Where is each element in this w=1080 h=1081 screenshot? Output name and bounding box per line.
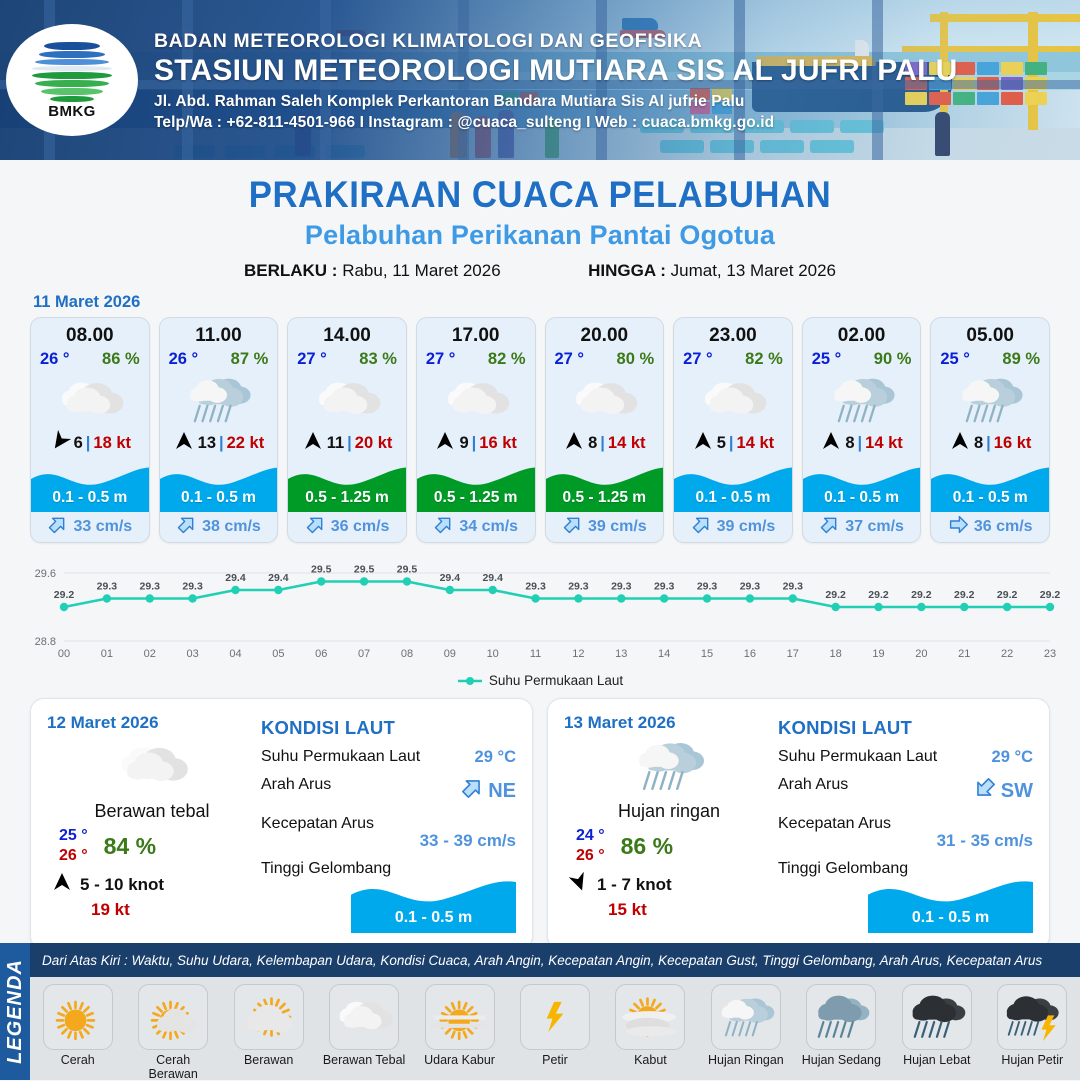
card-temperature: 27 ° [297, 350, 327, 369]
svg-text:05: 05 [272, 648, 284, 660]
page-title: PRAKIRAAN CUACA PELABUHAN [32, 174, 1047, 216]
card-temp-hum-row: 25 ° 89 % [931, 347, 1049, 369]
card-temp-hum-row: 26 ° 87 % [160, 347, 278, 369]
svg-text:29.2: 29.2 [1040, 589, 1061, 601]
legend-item: Cerah Berawan [130, 984, 216, 1081]
hujan-sedang-icon [806, 984, 876, 1050]
day1-date: 11 Maret 2026 [33, 293, 1080, 312]
card-wave-height: 0.1 - 0.5 m [674, 489, 792, 507]
card-wind-row: 11 | 20 kt [288, 431, 406, 462]
chart-legend: Suhu Permukaan Laut [0, 673, 1080, 688]
panel-right: KONDISI LAUT Suhu Permukaan Laut 29 °C A… [774, 713, 1033, 935]
panel-condition: Hujan ringan [564, 801, 774, 822]
svg-text:29.4: 29.4 [482, 572, 503, 584]
card-wave-height: 0.5 - 1.25 m [417, 489, 535, 507]
berawan-icon [234, 984, 304, 1050]
svg-text:18: 18 [830, 648, 842, 660]
card-wave: 0.1 - 0.5 m [674, 462, 792, 512]
legend-item: Udara Kabur [417, 984, 503, 1067]
panel-left: 13 Maret 2026 Hujan ringan 24 ° 26 ° 86 … [564, 713, 774, 935]
legend-item-label: Kabut [607, 1053, 693, 1067]
panel-gust: 19 kt [47, 900, 257, 920]
sst-chart: 29.628.829.20029.30129.30229.30329.40429… [16, 551, 1064, 671]
card-current-row: 39 cm/s [546, 512, 664, 542]
card-gust: 14 kt [865, 434, 903, 453]
svg-text:16: 16 [744, 648, 756, 660]
legend-items: Cerah Cerah Berawan Berawan Berawan Teba… [30, 977, 1080, 1080]
current-direction-arrow-icon [460, 776, 484, 806]
svg-text:07: 07 [358, 648, 370, 660]
hujan-ringan-icon [564, 735, 774, 797]
forecast-card: 05.00 25 ° 89 % 8 | 16 kt 0.1 - 0.5 m 36… [930, 317, 1050, 543]
card-temp-hum-row: 27 ° 83 % [288, 347, 406, 369]
svg-text:28.8: 28.8 [35, 636, 56, 648]
card-temperature: 27 ° [683, 350, 713, 369]
title-section: PRAKIRAAN CUACA PELABUHAN Pelabuhan Peri… [0, 160, 1080, 281]
agency-name: BADAN METEOROLOGI KLIMATOLOGI DAN GEOFIS… [154, 30, 957, 53]
card-temperature: 25 ° [940, 350, 970, 369]
card-temperature: 26 ° [40, 350, 70, 369]
legend-side-text: LEGENDA [4, 959, 27, 1064]
hingga-value: Jumat, 13 Maret 2026 [671, 261, 836, 280]
svg-text:29.3: 29.3 [525, 581, 546, 593]
svg-text:02: 02 [144, 648, 156, 660]
forecast-card: 20.00 27 ° 80 % 8 | 14 kt 0.5 - 1.25 m 3… [545, 317, 665, 543]
current-speed-value: 33 - 39 cm/s [261, 831, 516, 851]
svg-text:29.2: 29.2 [997, 589, 1018, 601]
panel-wave: 0.1 - 0.5 m [351, 875, 516, 933]
legend-item: Petir [512, 984, 598, 1067]
card-wind-speed: 5 [717, 434, 726, 453]
petir-icon [520, 984, 590, 1050]
arrow-e-icon [173, 431, 195, 456]
card-current-speed: 36 cm/s [974, 518, 1033, 536]
card-temperature: 27 ° [426, 350, 456, 369]
card-humidity: 86 % [102, 350, 140, 369]
card-current-speed: 39 cm/s [588, 518, 647, 536]
daily-forecast-panel: 13 Maret 2026 Hujan ringan 24 ° 26 ° 86 … [547, 698, 1050, 950]
card-wind-row: 8 | 16 kt [931, 431, 1049, 462]
card-wind-speed: 8 [974, 434, 983, 453]
chart-legend-label: Suhu Permukaan Laut [489, 673, 623, 688]
svg-text:10: 10 [487, 648, 499, 660]
card-current-speed: 37 cm/s [845, 518, 904, 536]
panel-left: 12 Maret 2026 Berawan tebal 25 ° 26 ° 84… [47, 713, 257, 935]
berlaku-value: Rabu, 11 Maret 2026 [342, 261, 500, 280]
arrow-ne-icon [819, 514, 840, 540]
svg-text:29.2: 29.2 [54, 589, 75, 601]
page-subtitle: Pelabuhan Perikanan Pantai Ogotua [0, 220, 1080, 251]
card-wind-separator: | [729, 434, 734, 453]
card-gust: 14 kt [608, 434, 646, 453]
card-time: 05.00 [931, 325, 1049, 347]
current-direction-value: NE [488, 780, 516, 803]
card-wave-height: 0.5 - 1.25 m [288, 489, 406, 507]
legend-item-label: Petir [512, 1053, 598, 1067]
svg-text:29.5: 29.5 [311, 564, 332, 576]
card-wind-separator: | [986, 434, 991, 453]
card-current-row: 38 cm/s [160, 512, 278, 542]
card-wave-height: 0.1 - 0.5 m [931, 489, 1049, 507]
panel-temp-hum: 24 ° 26 ° 86 % [564, 826, 774, 866]
legend-item-label: Berawan Tebal [321, 1053, 407, 1067]
panel-humidity: 84 % [104, 833, 156, 860]
kabut-icon [615, 984, 685, 1050]
arrow-e-icon [302, 431, 324, 456]
card-wind-separator: | [347, 434, 352, 453]
card-wind-row: 13 | 22 kt [160, 431, 278, 462]
forecast-card: 23.00 27 ° 82 % 5 | 14 kt 0.1 - 0.5 m 39… [673, 317, 793, 543]
panel-temp-max: 26 ° [59, 846, 88, 866]
svg-text:15: 15 [701, 648, 713, 660]
card-wave: 0.1 - 0.5 m [931, 462, 1049, 512]
sst-value: 29 °C [475, 748, 516, 767]
panel-wind-range: 1 - 7 knot [597, 875, 672, 895]
berawan-tebal-icon [288, 369, 406, 431]
legend-item: Hujan Petir [989, 984, 1075, 1067]
panel-temp-min: 24 ° [576, 826, 605, 846]
svg-text:13: 13 [615, 648, 627, 660]
panel-date: 13 Maret 2026 [564, 713, 774, 733]
card-temp-hum-row: 27 ° 80 % [546, 347, 664, 369]
card-temperature: 26 ° [169, 350, 199, 369]
svg-text:01: 01 [101, 648, 113, 660]
card-humidity: 80 % [617, 350, 655, 369]
card-wave: 0.5 - 1.25 m [288, 462, 406, 512]
panel-temps: 25 ° 26 ° [59, 826, 88, 866]
card-humidity: 90 % [874, 350, 912, 369]
panel-right: KONDISI LAUT Suhu Permukaan Laut 29 °C A… [257, 713, 516, 935]
panel-temp-min: 25 ° [59, 826, 88, 846]
card-humidity: 83 % [359, 350, 397, 369]
current-speed-label: Kecepatan Arus [778, 815, 891, 833]
legend-item-label: Hujan Lebat [894, 1053, 980, 1067]
svg-text:12: 12 [572, 648, 584, 660]
card-wind-speed: 6 [74, 434, 83, 453]
card-wind-separator: | [219, 434, 224, 453]
forecast-card: 11.00 26 ° 87 % 13 | 22 kt 0.1 - 0.5 m 3… [159, 317, 279, 543]
hujan-ringan-icon [160, 369, 278, 431]
svg-text:06: 06 [315, 648, 327, 660]
panel-wind-range: 5 - 10 knot [80, 875, 164, 895]
arrow-e-icon [692, 431, 714, 456]
sst-value: 29 °C [992, 748, 1033, 767]
hourly-forecast-row: 08.00 26 ° 86 % 6 | 18 kt 0.1 - 0.5 m 33… [0, 317, 1080, 543]
arrow-ne-icon [433, 514, 454, 540]
cerah-berawan-icon [138, 984, 208, 1050]
panel-wave-height: 0.1 - 0.5 m [351, 909, 516, 927]
berawan-tebal-icon [546, 369, 664, 431]
forecast-card: 14.00 27 ° 83 % 11 | 20 kt 0.5 - 1.25 m … [287, 317, 407, 543]
card-wind-separator: | [86, 434, 91, 453]
sst-label: Suhu Permukaan Laut [778, 748, 937, 766]
panel-temp-max: 26 ° [576, 846, 605, 866]
svg-text:29.2: 29.2 [911, 589, 932, 601]
card-time: 23.00 [674, 325, 792, 347]
card-current-speed: 38 cm/s [202, 518, 261, 536]
legend-item: Kabut [607, 984, 693, 1067]
berawan-tebal-icon [417, 369, 535, 431]
arrow-e-icon [51, 872, 73, 897]
legend-bar: LEGENDA Dari Atas Kiri : Waktu, Suhu Uda… [0, 943, 1080, 1080]
card-wave-height: 0.5 - 1.25 m [546, 489, 664, 507]
card-humidity: 89 % [1002, 350, 1040, 369]
svg-text:29.3: 29.3 [182, 581, 203, 593]
current-direction-value: SW [1001, 780, 1033, 803]
svg-text:04: 04 [229, 648, 241, 660]
current-direction-label: Arah Arus [778, 776, 848, 794]
legend-item: Hujan Sedang [798, 984, 884, 1067]
card-wave: 0.1 - 0.5 m [160, 462, 278, 512]
card-time: 02.00 [803, 325, 921, 347]
legend-item-label: Cerah [35, 1053, 121, 1067]
sst-row: Suhu Permukaan Laut 29 °C [778, 748, 1033, 767]
card-time: 14.00 [288, 325, 406, 347]
card-gust: 16 kt [994, 434, 1032, 453]
current-direction-label: Arah Arus [261, 776, 331, 794]
svg-text:22: 22 [1001, 648, 1013, 660]
card-temp-hum-row: 27 ° 82 % [674, 347, 792, 369]
berawan-tebal-icon [674, 369, 792, 431]
card-temperature: 27 ° [555, 350, 585, 369]
card-wave: 0.5 - 1.25 m [417, 462, 535, 512]
card-time: 11.00 [160, 325, 278, 347]
card-current-row: 36 cm/s [931, 512, 1049, 542]
page-header: BMKG BADAN METEOROLOGI KLIMATOLOGI DAN G… [0, 0, 1080, 160]
arrow-e-icon [563, 431, 585, 456]
card-wind-row: 9 | 16 kt [417, 431, 535, 462]
hujan-ringan-icon [931, 369, 1049, 431]
card-wind-speed: 8 [588, 434, 597, 453]
panel-wind: 5 - 10 knot [47, 872, 257, 897]
legend-item-label: Hujan Petir [989, 1053, 1075, 1067]
card-current-row: 36 cm/s [288, 512, 406, 542]
card-humidity: 82 % [745, 350, 783, 369]
card-gust: 18 kt [93, 434, 131, 453]
panel-temp-hum: 25 ° 26 ° 84 % [47, 826, 257, 866]
arrow-ne-icon [47, 514, 68, 540]
card-time: 08.00 [31, 325, 149, 347]
legend-item-label: Hujan Sedang [798, 1053, 884, 1067]
svg-text:29.3: 29.3 [740, 581, 761, 593]
hujan-ringan-icon [803, 369, 921, 431]
svg-text:29.3: 29.3 [97, 581, 118, 593]
svg-text:29.3: 29.3 [783, 581, 804, 593]
legend-item-label: Cerah Berawan [130, 1053, 216, 1081]
svg-text:29.3: 29.3 [697, 581, 718, 593]
svg-text:29.3: 29.3 [140, 581, 161, 593]
svg-text:29.4: 29.4 [440, 572, 461, 584]
panel-date: 12 Maret 2026 [47, 713, 257, 733]
svg-text:09: 09 [444, 648, 456, 660]
panel-wind: 1 - 7 knot [564, 872, 774, 897]
svg-text:29.5: 29.5 [397, 564, 418, 576]
arrow-w-icon [568, 872, 590, 897]
daily-forecast-panel: 12 Maret 2026 Berawan tebal 25 ° 26 ° 84… [30, 698, 533, 950]
legend-item: Berawan Tebal [321, 984, 407, 1067]
current-direction-arrow-icon [973, 776, 997, 806]
svg-text:08: 08 [401, 648, 413, 660]
arrow-e-icon [948, 514, 969, 540]
card-wind-row: 8 | 14 kt [546, 431, 664, 462]
legend-item-label: Udara Kabur [417, 1053, 503, 1067]
sst-label: Suhu Permukaan Laut [261, 748, 420, 766]
card-current-speed: 33 cm/s [73, 518, 132, 536]
card-wind-row: 8 | 14 kt [803, 431, 921, 462]
card-gust: 22 kt [227, 434, 265, 453]
card-temp-hum-row: 27 ° 82 % [417, 347, 535, 369]
arrow-ne-icon [691, 514, 712, 540]
arrow-e-icon [434, 431, 456, 456]
panel-wave: 0.1 - 0.5 m [868, 875, 1033, 933]
svg-text:29.3: 29.3 [654, 581, 675, 593]
svg-text:29.3: 29.3 [611, 581, 632, 593]
card-wave-height: 0.1 - 0.5 m [803, 489, 921, 507]
card-temp-hum-row: 25 ° 90 % [803, 347, 921, 369]
arrow-ne-icon [176, 514, 197, 540]
card-current-row: 33 cm/s [31, 512, 149, 542]
svg-text:21: 21 [958, 648, 970, 660]
card-wind-row: 5 | 14 kt [674, 431, 792, 462]
card-current-speed: 34 cm/s [459, 518, 518, 536]
current-direction-row: Arah Arus SW [778, 776, 1033, 806]
card-current-row: 34 cm/s [417, 512, 535, 542]
panel-condition: Berawan tebal [47, 801, 257, 822]
panel-wave-height: 0.1 - 0.5 m [868, 909, 1033, 927]
legend-marker-icon [457, 676, 483, 686]
berawan-tebal-icon [47, 735, 257, 797]
svg-text:29.2: 29.2 [825, 589, 846, 601]
card-current-row: 39 cm/s [674, 512, 792, 542]
card-gust: 20 kt [355, 434, 393, 453]
current-speed-value: 31 - 35 cm/s [778, 831, 1033, 851]
card-gust: 14 kt [737, 434, 775, 453]
card-wind-separator: | [858, 434, 863, 453]
svg-text:29.6: 29.6 [35, 568, 56, 580]
berlaku-label: BERLAKU : [244, 261, 338, 280]
berawan-tebal-icon [31, 369, 149, 431]
legend-item: Berawan [226, 984, 312, 1067]
legend-item-label: Berawan [226, 1053, 312, 1067]
svg-text:14: 14 [658, 648, 670, 660]
card-wind-speed: 9 [459, 434, 468, 453]
station-name: STASIUN METEOROLOGI MUTIARA SIS AL JUFRI… [154, 55, 957, 87]
forecast-card: 02.00 25 ° 90 % 8 | 14 kt 0.1 - 0.5 m 37… [802, 317, 922, 543]
card-wave: 0.5 - 1.25 m [546, 462, 664, 512]
arrow-ne-icon [562, 514, 583, 540]
svg-text:00: 00 [58, 648, 70, 660]
svg-text:03: 03 [186, 648, 198, 660]
svg-text:19: 19 [872, 648, 884, 660]
current-speed-label: Kecepatan Arus [261, 815, 374, 833]
card-wind-row: 6 | 18 kt [31, 431, 149, 462]
station-contact: Telp/Wa : +62-811-4501-966 I Instagram :… [154, 114, 957, 132]
station-address: Jl. Abd. Rahman Saleh Komplek Perkantora… [154, 93, 957, 111]
svg-text:11: 11 [530, 648, 541, 660]
arrow-ne-icon [305, 514, 326, 540]
card-wind-speed: 13 [198, 434, 216, 453]
hingga-label: HINGGA : [588, 261, 666, 280]
svg-text:17: 17 [787, 648, 799, 660]
sst-row: Suhu Permukaan Laut 29 °C [261, 748, 516, 767]
panel-gust: 15 kt [564, 900, 774, 920]
card-current-row: 37 cm/s [803, 512, 921, 542]
svg-text:29.4: 29.4 [225, 572, 246, 584]
svg-text:29.2: 29.2 [954, 589, 975, 601]
card-wave-height: 0.1 - 0.5 m [160, 489, 278, 507]
legend-item: Cerah [35, 984, 121, 1067]
card-humidity: 82 % [488, 350, 526, 369]
svg-text:29.5: 29.5 [354, 564, 375, 576]
card-humidity: 87 % [231, 350, 269, 369]
card-wave: 0.1 - 0.5 m [803, 462, 921, 512]
card-wind-speed: 11 [327, 434, 344, 453]
legend-item: Hujan Ringan [703, 984, 789, 1067]
arrow-e-icon [820, 431, 842, 456]
card-temperature: 25 ° [812, 350, 842, 369]
current-direction-value-wrap: SW [973, 776, 1033, 806]
svg-text:23: 23 [1044, 648, 1056, 660]
berawan-tebal-icon [329, 984, 399, 1050]
cerah-icon [43, 984, 113, 1050]
card-wind-separator: | [600, 434, 605, 453]
card-wind-speed: 8 [845, 434, 854, 453]
card-wind-separator: | [472, 434, 477, 453]
udara-kabur-icon [425, 984, 495, 1050]
card-current-speed: 36 cm/s [331, 518, 390, 536]
current-direction-value-wrap: NE [460, 776, 516, 806]
card-gust: 16 kt [479, 434, 517, 453]
svg-text:20: 20 [915, 648, 927, 660]
card-time: 17.00 [417, 325, 535, 347]
card-temp-hum-row: 26 ° 86 % [31, 347, 149, 369]
forecast-card: 08.00 26 ° 86 % 6 | 18 kt 0.1 - 0.5 m 33… [30, 317, 150, 543]
svg-text:29.2: 29.2 [868, 589, 889, 601]
legend-side-label: LEGENDA [0, 943, 30, 1080]
legend-item: Hujan Lebat [894, 984, 980, 1067]
validity-row: BERLAKU : Rabu, 11 Maret 2026 HINGGA : J… [0, 261, 1080, 281]
card-wave-height: 0.1 - 0.5 m [31, 489, 149, 507]
sea-condition-title: KONDISI LAUT [778, 717, 1033, 739]
daily-forecast-panels: 12 Maret 2026 Berawan tebal 25 ° 26 ° 84… [0, 688, 1080, 950]
bmkg-logo: BMKG [6, 24, 138, 136]
hujan-lebat-icon [902, 984, 972, 1050]
card-current-speed: 39 cm/s [717, 518, 776, 536]
card-wave: 0.1 - 0.5 m [31, 462, 149, 512]
legend-note: Dari Atas Kiri : Waktu, Suhu Udara, Kele… [30, 943, 1080, 977]
svg-text:29.4: 29.4 [268, 572, 289, 584]
forecast-card: 17.00 27 ° 82 % 9 | 16 kt 0.5 - 1.25 m 3… [416, 317, 536, 543]
card-time: 20.00 [546, 325, 664, 347]
header-text-block: BADAN METEOROLOGI KLIMATOLOGI DAN GEOFIS… [154, 30, 957, 132]
arrow-e-icon [949, 431, 971, 456]
current-direction-row: Arah Arus NE [261, 776, 516, 806]
panel-temps: 24 ° 26 ° [576, 826, 605, 866]
sea-condition-title: KONDISI LAUT [261, 717, 516, 739]
hujan-petir-icon [997, 984, 1067, 1050]
legend-item-label: Hujan Ringan [703, 1053, 789, 1067]
bmkg-logo-mark [30, 40, 114, 102]
arrow-nw-icon [49, 431, 71, 456]
svg-text:29.3: 29.3 [568, 581, 589, 593]
bmkg-logo-text: BMKG [48, 103, 95, 120]
hujan-ringan-icon [711, 984, 781, 1050]
panel-humidity: 86 % [621, 833, 673, 860]
